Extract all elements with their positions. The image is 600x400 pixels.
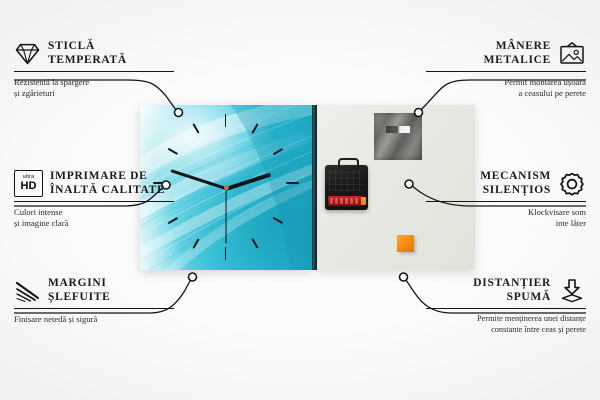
feature-polished-edges[interactable]: MARGINI ȘLEFUITE Finisare netedă și sigu… bbox=[14, 277, 174, 325]
feature-desc-line1: Klockvisare som bbox=[426, 207, 586, 218]
feature-divider bbox=[14, 71, 174, 72]
feature-heading: MECANISM SILENȚIOS bbox=[426, 170, 586, 197]
feature-heading: ultra HD IMPRIMARE DE ÎNALTĂ CALITATE bbox=[14, 170, 174, 197]
feature-title-line1: MARGINI bbox=[48, 277, 110, 291]
ultra-hd-icon: ultra HD bbox=[14, 170, 43, 197]
picture-hanger-icon bbox=[558, 41, 586, 66]
feature-tempered-glass[interactable]: STICLĂ TEMPERATĂ Rezistentă la spargere … bbox=[14, 40, 174, 98]
minute-hand bbox=[170, 169, 226, 190]
feature-title-line1: IMPRIMARE DE bbox=[50, 170, 165, 184]
ultra-hd-icon-big-label: HD bbox=[21, 181, 37, 192]
feature-desc-line2: a ceasului pe perete bbox=[426, 88, 586, 99]
battery bbox=[328, 196, 362, 206]
feature-heading: DISTANȚIER SPUMĂ bbox=[426, 277, 586, 304]
feature-divider bbox=[14, 308, 174, 309]
feature-metal-hangers[interactable]: MÂNERE METALICE Permit montarea ușoară a… bbox=[426, 40, 586, 98]
feature-heading: MARGINI ȘLEFUITE bbox=[14, 277, 174, 304]
feature-title-line2: ÎNALTĂ CALITATE bbox=[50, 184, 165, 198]
feature-desc-line2: și zgârieturi bbox=[14, 88, 174, 99]
feature-title-line1: STICLĂ bbox=[48, 40, 127, 54]
feature-title-line1: DISTANȚIER bbox=[473, 277, 551, 291]
feature-divider bbox=[14, 201, 174, 202]
battery-label bbox=[330, 198, 360, 204]
feature-desc-line1: Finisare netedă și sigură bbox=[14, 314, 174, 325]
second-hand bbox=[225, 188, 226, 244]
feature-title-line1: MECANISM bbox=[480, 170, 551, 184]
feature-title-line1: MÂNERE bbox=[484, 40, 551, 54]
feature-silent-movement[interactable]: MECANISM SILENȚIOS Klockvisare som inte … bbox=[426, 170, 586, 228]
feature-desc-line2: și imagine clară bbox=[14, 218, 174, 229]
feature-heading: STICLĂ TEMPERATĂ bbox=[14, 40, 174, 67]
feature-desc-line1: Permite menținerea unei distanțe bbox=[426, 314, 586, 325]
feature-desc-line1: Permit montarea ușoară bbox=[426, 77, 586, 88]
feature-title-line2: SILENȚIOS bbox=[480, 184, 551, 198]
feature-title-line2: METALICE bbox=[484, 54, 551, 68]
quartz-movement bbox=[325, 165, 368, 210]
hanger-slot bbox=[386, 126, 410, 133]
movement-grid bbox=[329, 170, 364, 191]
feature-heading: MÂNERE METALICE bbox=[426, 40, 586, 67]
foam-spacer-icon bbox=[558, 278, 586, 304]
feature-hd-print[interactable]: ultra HD IMPRIMARE DE ÎNALTĂ CALITATE Cu… bbox=[14, 170, 174, 228]
feature-desc-line1: Culori intense bbox=[14, 207, 174, 218]
feature-desc-line2: inte låter bbox=[426, 218, 586, 229]
feature-desc-line1: Rezistentă la spargere bbox=[14, 77, 174, 88]
feature-divider bbox=[426, 308, 586, 309]
feature-title-line2: TEMPERATĂ bbox=[48, 54, 127, 68]
feature-divider bbox=[426, 201, 586, 202]
foam-spacer bbox=[397, 235, 414, 252]
diamond-icon bbox=[14, 42, 41, 66]
feature-title-line2: ȘLEFUITE bbox=[48, 291, 110, 305]
feature-divider bbox=[426, 71, 586, 72]
feature-title-line2: SPUMĂ bbox=[473, 291, 551, 305]
feature-desc-line2: constante între ceas și perete bbox=[426, 325, 586, 336]
polished-edges-icon bbox=[14, 279, 41, 303]
feature-foam-spacer[interactable]: DISTANȚIER SPUMĂ Permite menținerea unei… bbox=[426, 277, 586, 335]
gear-icon bbox=[558, 171, 586, 197]
hour-hand bbox=[225, 173, 271, 192]
hand-cap bbox=[224, 185, 229, 190]
metal-hanger bbox=[374, 113, 422, 160]
infographic-canvas: STICLĂ TEMPERATĂ Rezistentă la spargere … bbox=[0, 0, 600, 400]
product-image bbox=[140, 105, 475, 270]
